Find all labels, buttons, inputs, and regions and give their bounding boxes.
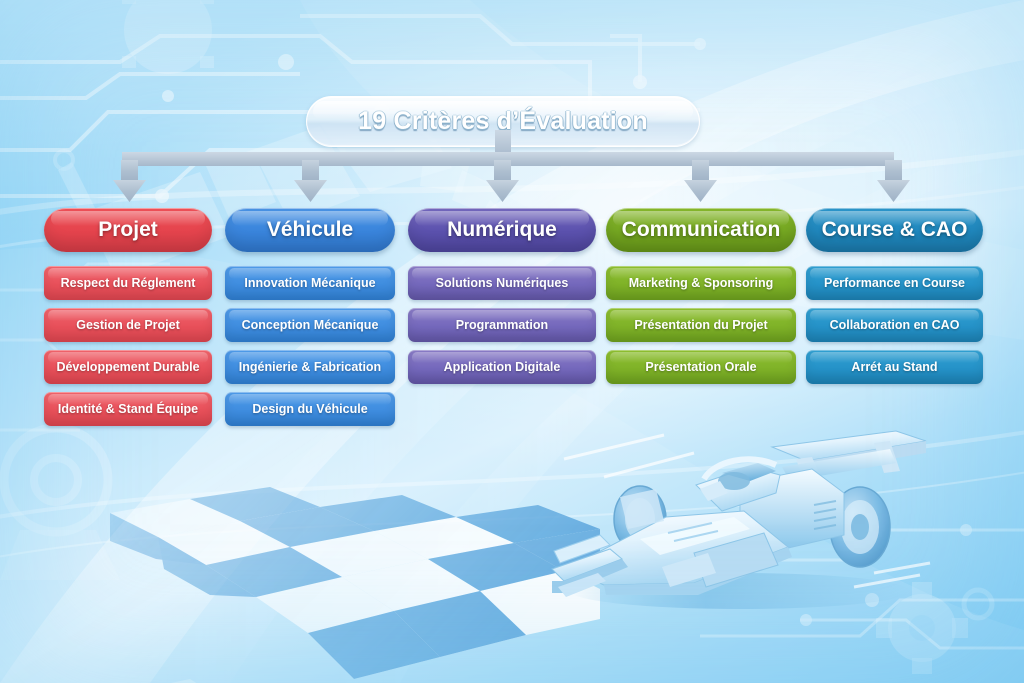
diagram-canvas: 19 Critères d’Évaluation [0,0,1024,683]
criterion-item[interactable]: Présentation Orale [606,350,796,384]
category-header-numerique[interactable]: Numérique [408,208,596,252]
category-header-communication[interactable]: Communication [606,208,796,252]
criterion-label: Présentation Orale [645,360,756,374]
category-column-vehicule: Véhicule Innovation Mécanique Conception… [225,208,395,252]
criterion-label: Gestion de Projet [76,318,180,332]
criterion-item[interactable]: Développement Durable [44,350,212,384]
criterion-item[interactable]: Respect du Réglement [44,266,212,300]
criterion-item[interactable]: Collaboration en CAO [806,308,983,342]
criterion-label: Application Digitale [444,360,561,374]
criteria-list-projet: Respect du Réglement Gestion de Projet D… [44,266,212,434]
category-column-numerique: Numérique Solutions Numériques Programma… [408,208,596,252]
criterion-item[interactable]: Conception Mécanique [225,308,395,342]
criterion-label: Design du Véhicule [252,402,367,416]
criterion-item[interactable]: Design du Véhicule [225,392,395,426]
criterion-item[interactable]: Programmation [408,308,596,342]
down-arrow-icon [684,160,717,202]
category-header-label: Numérique [447,218,557,242]
category-header-label: Course & CAO [822,218,968,242]
criterion-label: Innovation Mécanique [244,276,375,290]
criterion-item[interactable]: Gestion de Projet [44,308,212,342]
category-header-label: Projet [98,218,158,242]
down-arrow-icon [294,160,327,202]
criterion-label: Ingénierie & Fabrication [239,360,381,374]
criterion-item[interactable]: Application Digitale [408,350,596,384]
criterion-label: Marketing & Sponsoring [629,276,773,290]
criterion-label: Développement Durable [56,360,199,374]
category-header-vehicule[interactable]: Véhicule [225,208,395,252]
down-arrow-icon [877,160,910,202]
criterion-item[interactable]: Identité & Stand Équipe [44,392,212,426]
category-header-projet[interactable]: Projet [44,208,212,252]
category-header-label: Véhicule [267,218,353,242]
category-column-course-cao: Course & CAO Performance en Course Colla… [806,208,983,252]
criterion-item[interactable]: Solutions Numériques [408,266,596,300]
criterion-item[interactable]: Ingénierie & Fabrication [225,350,395,384]
down-arrow-icon [113,160,146,202]
category-header-label: Communication [622,218,781,242]
criterion-label: Solutions Numériques [436,276,569,290]
down-arrow-icon [486,160,519,202]
criterion-label: Arrét au Stand [851,360,937,374]
criteria-list-communication: Marketing & Sponsoring Présentation du P… [606,266,796,392]
criterion-item[interactable]: Marketing & Sponsoring [606,266,796,300]
criteria-list-course-cao: Performance en Course Collaboration en C… [806,266,983,392]
criterion-label: Respect du Réglement [61,276,196,290]
criterion-label: Présentation du Projet [634,318,767,332]
criterion-label: Programmation [456,318,548,332]
criterion-label: Performance en Course [824,276,965,290]
criteria-list-numerique: Solutions Numériques Programmation Appli… [408,266,596,392]
criterion-item[interactable]: Innovation Mécanique [225,266,395,300]
criteria-columns: Projet Respect du Réglement Gestion de P… [0,208,1024,448]
criterion-label: Conception Mécanique [242,318,379,332]
category-column-projet: Projet Respect du Réglement Gestion de P… [44,208,212,252]
criterion-item[interactable]: Performance en Course [806,266,983,300]
criteria-list-vehicule: Innovation Mécanique Conception Mécaniqu… [225,266,395,434]
connector-tree [0,130,1024,220]
criterion-item[interactable]: Arrét au Stand [806,350,983,384]
criterion-item[interactable]: Présentation du Projet [606,308,796,342]
checkered-flag-pattern [0,463,600,683]
criterion-label: Identité & Stand Équipe [58,402,198,416]
category-column-communication: Communication Marketing & Sponsoring Pré… [606,208,796,252]
criterion-label: Collaboration en CAO [830,318,960,332]
formula-race-car-illustration [544,423,934,613]
category-header-course-cao[interactable]: Course & CAO [806,208,983,252]
